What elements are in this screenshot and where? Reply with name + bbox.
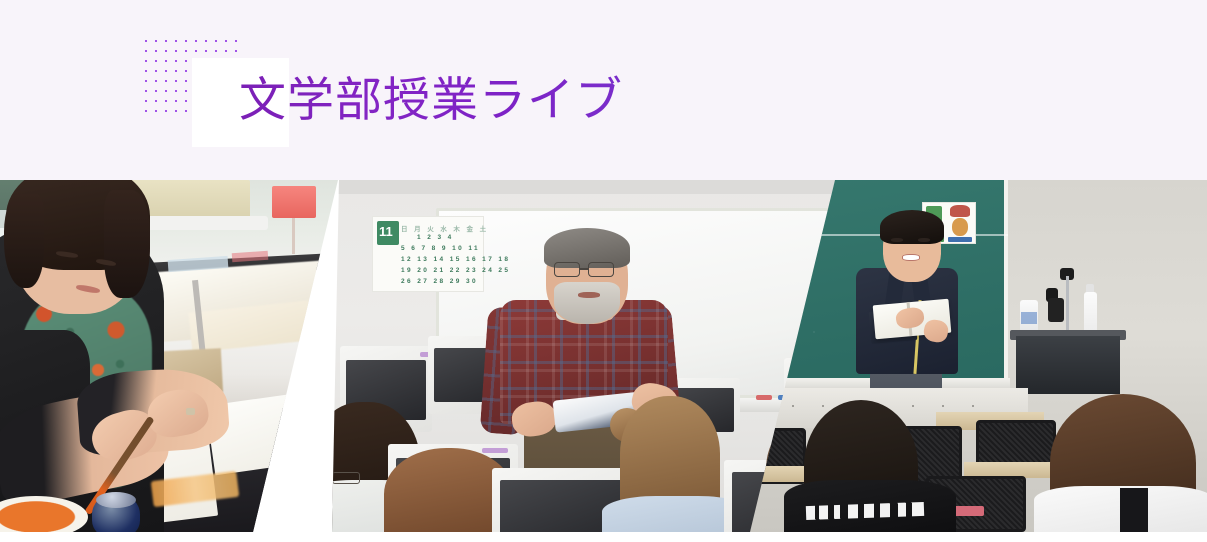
spray-bottle xyxy=(1084,292,1097,332)
poster-label-right xyxy=(948,237,972,242)
monitor-stripe-2 xyxy=(482,448,508,453)
sanitizer-label xyxy=(1021,312,1037,324)
tripod-pole xyxy=(1066,276,1069,330)
photo-panel-calligraphy[interactable] xyxy=(0,180,338,532)
calendar-month-badge xyxy=(377,221,399,245)
hair-side-right xyxy=(104,190,150,298)
marker-red-2 xyxy=(756,395,772,400)
lecturer-mouth xyxy=(902,254,920,261)
student-bag-strap xyxy=(1120,488,1148,532)
lamp-stem xyxy=(292,218,295,254)
finger-ring xyxy=(186,408,195,415)
calendar-week-2: 5 6 7 8 9 10 11 xyxy=(401,245,480,252)
eyeglass-bridge xyxy=(580,268,588,270)
teacher-mouth xyxy=(578,292,600,298)
calendar-week-4: 19 20 21 22 23 24 25 xyxy=(401,267,510,274)
page-header: 文学部授業ライブ xyxy=(0,0,1207,180)
jar-lid xyxy=(96,492,136,508)
wall-calendar: 日 月 火 水 木 金 土 1 2 3 4 5 6 7 8 9 10 11 12… xyxy=(372,216,484,292)
red-lamp xyxy=(272,186,316,218)
calendar-week-5: 26 27 28 29 30 xyxy=(401,278,478,285)
lecturer-eye-right xyxy=(918,238,930,242)
teacher-beard xyxy=(554,282,620,324)
poster-icon-red xyxy=(950,205,970,217)
page-root: 文学部授業ライブ xyxy=(0,0,1207,542)
lecturer-hair xyxy=(880,210,944,244)
eyeglass-lens-left xyxy=(554,262,580,277)
poster-icon-orange xyxy=(952,218,968,236)
calendar-week-3: 12 13 14 15 16 17 18 xyxy=(401,256,510,263)
student-left-glasses xyxy=(332,472,360,484)
lecturer-eye-left xyxy=(891,238,903,242)
equipment-cart xyxy=(1016,336,1120,394)
eyeglass-lens-right xyxy=(588,262,614,277)
hair-side-left xyxy=(4,194,44,288)
page-title: 文学部授業ライブ xyxy=(239,69,623,131)
calendar-week-1: 1 2 3 4 xyxy=(417,234,454,241)
photo-strip: 日 月 火 水 木 金 土 1 2 3 4 5 6 7 8 9 10 11 12… xyxy=(0,180,1207,532)
video-camera xyxy=(1048,298,1064,322)
ceiling-band xyxy=(332,180,844,194)
calendar-weekday-row: 日 月 火 水 木 金 土 xyxy=(401,223,489,233)
